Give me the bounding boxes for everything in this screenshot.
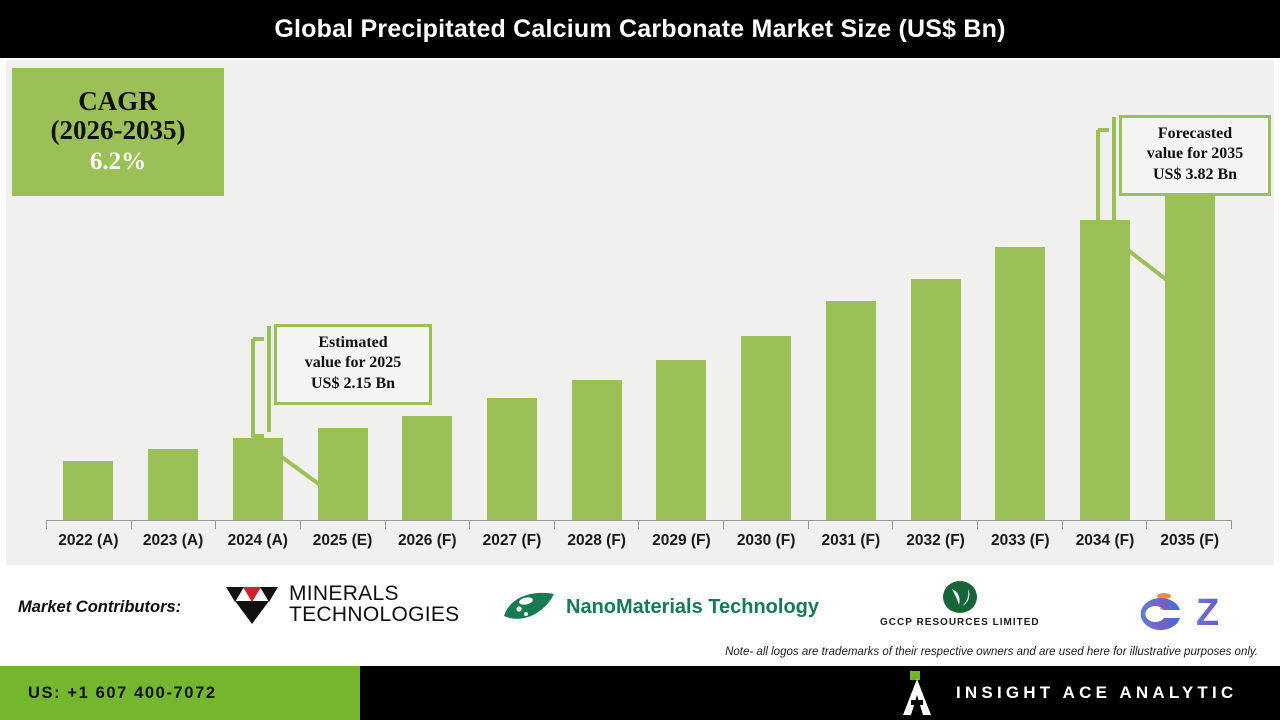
bar-2024[interactable] xyxy=(233,438,283,520)
logo-ez: Z xyxy=(1134,584,1254,632)
axis-tick xyxy=(554,520,555,529)
ez-logo-icon: Z xyxy=(1134,584,1254,632)
x-axis-label-2031: 2031 (F) xyxy=(808,532,893,558)
nanomaterials-leaf-icon xyxy=(500,590,558,624)
gccp-wordmark: GCCP RESOURCES LIMITED xyxy=(880,617,1040,628)
bar-2034[interactable] xyxy=(1080,220,1130,520)
bar-slot xyxy=(385,80,470,520)
contributors-label: Market Contributors: xyxy=(18,598,181,617)
x-axis-ticks xyxy=(46,520,1232,529)
bar-2023[interactable] xyxy=(148,449,198,520)
bar-slot xyxy=(893,80,978,520)
bar-2025[interactable] xyxy=(318,428,368,520)
trademark-note: Note- all logos are trademarks of their … xyxy=(725,646,1258,658)
bar-slot xyxy=(46,80,131,520)
axis-tick xyxy=(638,520,639,529)
axis-tick xyxy=(892,520,893,529)
x-axis-label-2024: 2024 (A) xyxy=(215,532,300,558)
bar-2035[interactable] xyxy=(1165,182,1215,520)
x-axis-label-2022: 2022 (A) xyxy=(46,532,131,558)
callout-forecasted-line3: US$ 3.82 Bn xyxy=(1132,165,1258,185)
footer-brand-block: INSIGHT ACE ANALYTIC xyxy=(900,666,1237,720)
footer-bar: US: +1 607 400-7072 INSIGHT ACE ANALYTIC xyxy=(0,666,1280,720)
axis-tick xyxy=(808,520,809,529)
axis-tick xyxy=(977,520,978,529)
bar-2028[interactable] xyxy=(572,380,622,520)
bar-slot xyxy=(808,80,893,520)
callout-estimated-line1: Estimated xyxy=(287,333,419,353)
bar-slot xyxy=(131,80,216,520)
bar-slot xyxy=(639,80,724,520)
bar-slot xyxy=(470,80,555,520)
axis-tick xyxy=(1062,520,1063,529)
insight-ace-a-logo-icon xyxy=(900,671,934,715)
bar-2029[interactable] xyxy=(656,360,706,520)
logo-nanomaterials-technology: NanoMaterials Technology xyxy=(500,590,819,624)
axis-tick xyxy=(469,520,470,529)
x-axis-label-2034: 2034 (F) xyxy=(1063,532,1148,558)
callout-forecasted-2035: Forecasted value for 2035 US$ 3.82 Bn xyxy=(1119,115,1271,196)
bar-2027[interactable] xyxy=(487,398,537,520)
minerals-technologies-wordmark: MINERALS TECHNOLOGIES xyxy=(289,583,459,626)
x-axis-label-2032: 2032 (F) xyxy=(893,532,978,558)
title-bar: Global Precipitated Calcium Carbonate Ma… xyxy=(0,0,1280,58)
axis-tick xyxy=(1146,520,1147,529)
callout-forecasted-line1: Forecasted xyxy=(1132,124,1258,144)
svg-text:Z: Z xyxy=(1196,592,1219,632)
x-axis-labels: 2022 (A)2023 (A)2024 (A)2025 (E)2026 (F)… xyxy=(46,532,1232,558)
footer-phone[interactable]: US: +1 607 400-7072 xyxy=(28,684,217,703)
axis-tick xyxy=(385,520,386,529)
x-axis-label-2026: 2026 (F) xyxy=(385,532,470,558)
x-axis-label-2027: 2027 (F) xyxy=(470,532,555,558)
bar-2032[interactable] xyxy=(911,279,961,520)
x-axis-label-2025: 2025 (E) xyxy=(300,532,385,558)
x-axis-label-2033: 2033 (F) xyxy=(978,532,1063,558)
x-axis-label-2029: 2029 (F) xyxy=(639,532,724,558)
x-axis-label-2023: 2023 (A) xyxy=(131,532,216,558)
bar-2022[interactable] xyxy=(63,461,113,520)
footer-contact-block: US: +1 607 400-7072 xyxy=(0,666,360,720)
axis-tick xyxy=(215,520,216,529)
bar-chart-plot: 2022 (A)2023 (A)2024 (A)2025 (E)2026 (F)… xyxy=(46,80,1232,560)
footer-brand-name: INSIGHT ACE ANALYTIC xyxy=(956,683,1237,703)
market-contributors-strip: Market Contributors: MINERALS TECHNOLOGI… xyxy=(0,568,1280,666)
mt-line1: MINERALS xyxy=(289,583,459,604)
logo-minerals-technologies: MINERALS TECHNOLOGIES xyxy=(224,582,459,626)
bar-slot xyxy=(724,80,809,520)
x-axis-label-2030: 2030 (F) xyxy=(724,532,809,558)
bar-slot xyxy=(554,80,639,520)
bar-2031[interactable] xyxy=(826,301,876,520)
bar-series xyxy=(46,80,1232,520)
axis-tick xyxy=(723,520,724,529)
nanomaterials-wordmark: NanoMaterials Technology xyxy=(566,596,819,619)
callout-forecasted-line2: value for 2035 xyxy=(1132,144,1258,164)
minerals-technologies-triangle-icon xyxy=(224,582,280,626)
callout-estimated-line3: US$ 2.15 Bn xyxy=(287,374,419,394)
callout-estimated-2025: Estimated value for 2025 US$ 2.15 Bn xyxy=(274,324,432,405)
callout-estimated-line2: value for 2025 xyxy=(287,353,419,373)
chart-area: CAGR (2026-2035) 6.2% 2022 (A)2023 (A)20… xyxy=(6,60,1274,565)
bar-slot xyxy=(978,80,1063,520)
page-title: Global Precipitated Calcium Carbonate Ma… xyxy=(274,15,1005,44)
bar-2026[interactable] xyxy=(402,416,452,520)
bar-2033[interactable] xyxy=(995,247,1045,520)
bar-2030[interactable] xyxy=(741,336,791,520)
mt-line2: TECHNOLOGIES xyxy=(289,604,459,625)
axis-tick xyxy=(300,520,301,529)
bar-slot xyxy=(215,80,300,520)
logo-gccp-resources: GCCP RESOURCES LIMITED xyxy=(880,580,1040,628)
bar-slot xyxy=(300,80,385,520)
axis-tick xyxy=(131,520,132,529)
x-axis-label-2035: 2035 (F) xyxy=(1147,532,1232,558)
axis-tick xyxy=(46,520,47,529)
gccp-emblem-icon xyxy=(937,580,983,614)
x-axis-label-2028: 2028 (F) xyxy=(554,532,639,558)
infographic-root: Global Precipitated Calcium Carbonate Ma… xyxy=(0,0,1280,720)
axis-tick xyxy=(1231,520,1232,529)
